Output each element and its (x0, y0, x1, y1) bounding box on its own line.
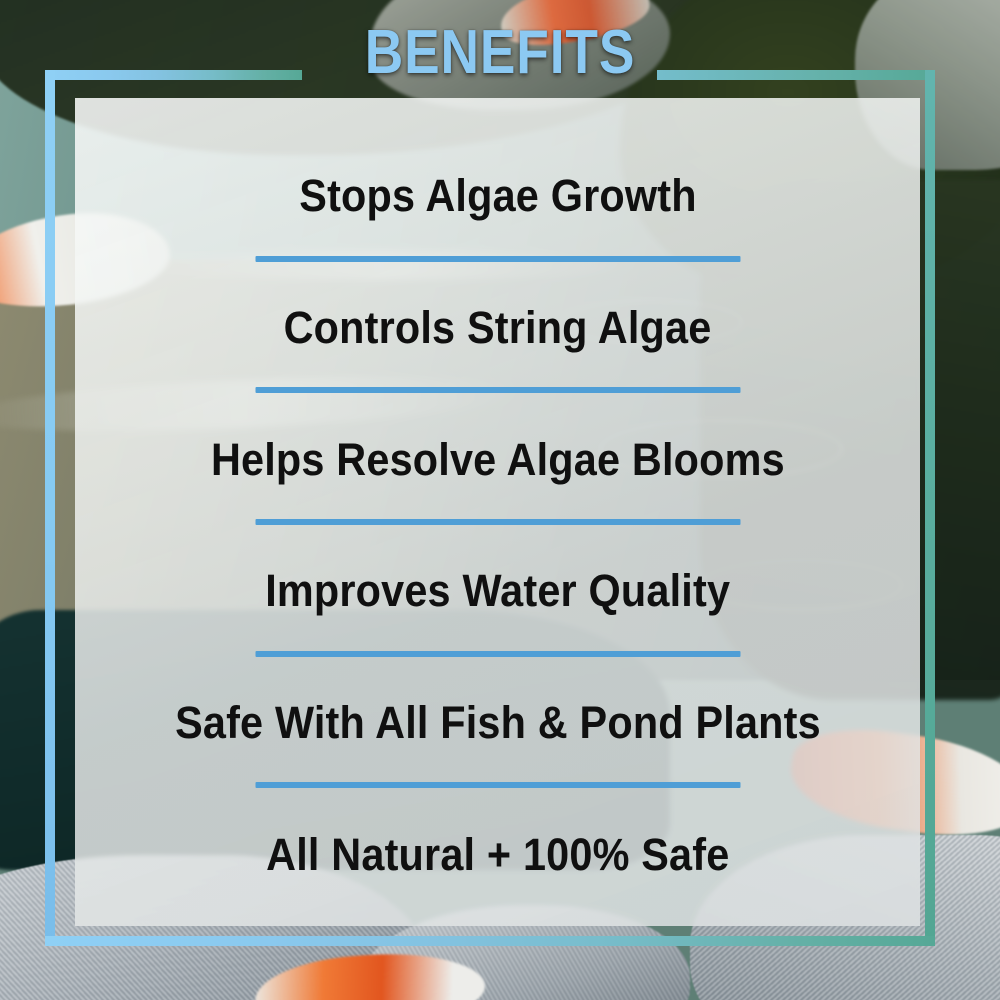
list-item: Safe With All Fish & Pond Plants (75, 657, 920, 789)
benefits-list: Stops Algae Growth Controls String Algae… (75, 130, 920, 920)
benefit-label: Improves Water Quality (265, 567, 730, 614)
benefit-label: Helps Resolve Algae Blooms (211, 436, 785, 483)
benefit-label: Controls String Algae (284, 304, 712, 351)
benefit-label: Safe With All Fish & Pond Plants (175, 699, 821, 746)
list-item: Improves Water Quality (75, 525, 920, 657)
list-item: Controls String Algae (75, 262, 920, 394)
benefit-label: Stops Algae Growth (299, 172, 696, 219)
page-title: BENEFITS (70, 22, 930, 84)
list-item: Stops Algae Growth (75, 130, 920, 262)
list-item: All Natural + 100% Safe (75, 788, 920, 920)
benefits-infographic: BENEFITS Stops Algae Growth Controls Str… (0, 0, 1000, 1000)
list-item: Helps Resolve Algae Blooms (75, 393, 920, 525)
benefit-label: All Natural + 100% Safe (266, 831, 729, 878)
